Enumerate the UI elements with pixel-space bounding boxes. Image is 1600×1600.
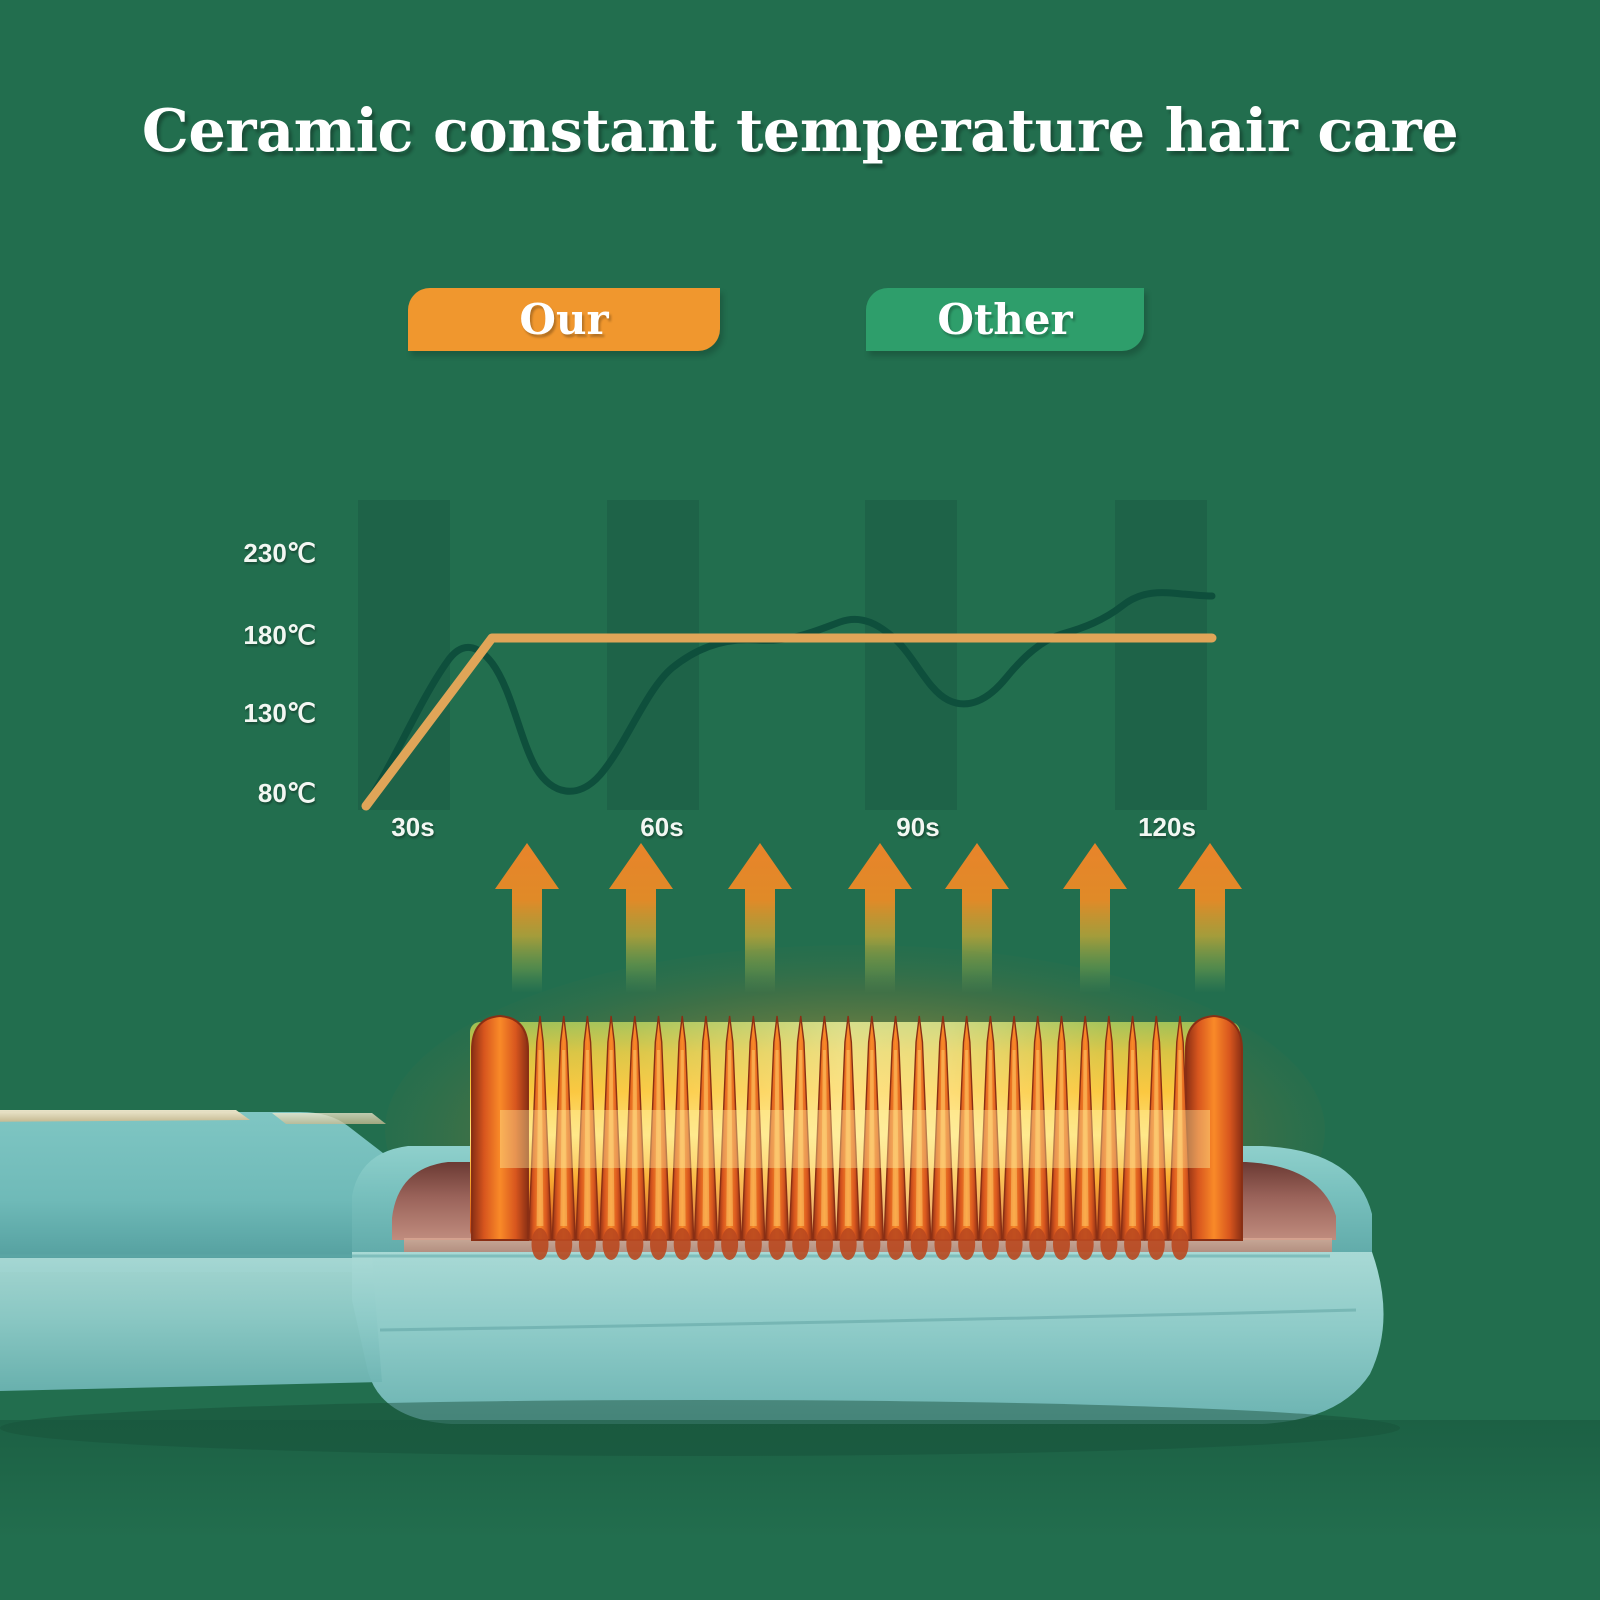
device-handle (0, 1112, 392, 1272)
device-handle-front (0, 1258, 382, 1392)
device-trim-accent (272, 1113, 386, 1124)
comb-tooth-base (603, 1228, 620, 1260)
comb-tooth-base (745, 1228, 762, 1260)
comb-tooth-base (1124, 1228, 1141, 1260)
device-photo (0, 0, 1600, 1600)
product-marketing-banner: Ceramic constant temperature hair care O… (0, 0, 1600, 1600)
comb-tooth-base (555, 1228, 572, 1260)
comb-tooth-base (674, 1228, 691, 1260)
comb-tooth-base (1148, 1228, 1165, 1260)
comb-tooth-base (1053, 1228, 1070, 1260)
comb-tooth-base (650, 1228, 667, 1260)
comb-tooth-base (863, 1228, 880, 1260)
comb-tooth-base (1029, 1228, 1046, 1260)
comb-core-light (500, 1110, 1210, 1168)
comb-tooth-base (721, 1228, 738, 1260)
comb-tooth-base (840, 1228, 857, 1260)
comb-tooth-base (1172, 1228, 1189, 1260)
comb-tooth-base (626, 1228, 643, 1260)
comb-tooth-base (1100, 1228, 1117, 1260)
comb-tooth-base (911, 1228, 928, 1260)
comb-tooth-base (816, 1228, 833, 1260)
device-front-face (352, 1252, 1384, 1424)
comb-tooth-base (1006, 1228, 1023, 1260)
comb-tooth-base (769, 1228, 786, 1260)
comb-tooth-base (958, 1228, 975, 1260)
comb-tooth-base (982, 1228, 999, 1260)
comb-tooth-base (532, 1228, 549, 1260)
comb-tooth-base (887, 1228, 904, 1260)
floor-shadow (0, 1420, 1600, 1540)
comb-tooth-base (697, 1228, 714, 1260)
device-trim (0, 1110, 250, 1122)
comb-tooth-base (579, 1228, 596, 1260)
comb-tooth-base (1077, 1228, 1094, 1260)
comb-tooth-base (934, 1228, 951, 1260)
comb-tooth-base (792, 1228, 809, 1260)
heated-comb (470, 1016, 1242, 1260)
